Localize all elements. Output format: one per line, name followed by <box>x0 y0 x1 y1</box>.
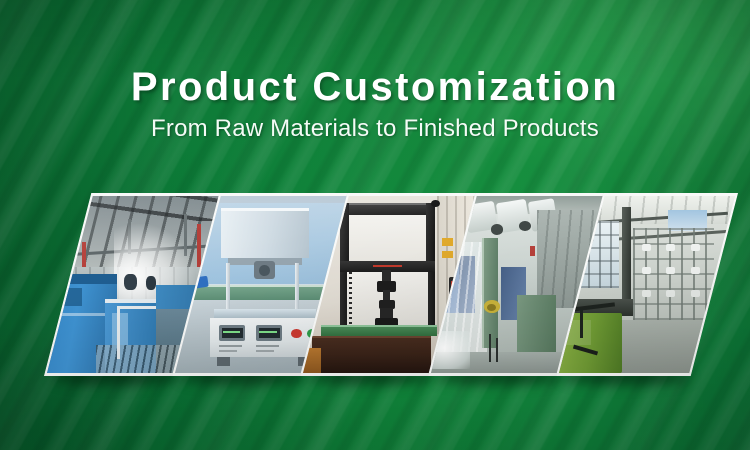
page-subtitle: From Raw Materials to Finished Products <box>0 116 750 142</box>
product-customization-banner: Product Customization From Raw Materials… <box>0 0 750 450</box>
banner-headings: Product Customization From Raw Materials… <box>0 66 750 142</box>
page-title: Product Customization <box>0 66 750 108</box>
image-gallery <box>0 193 750 378</box>
